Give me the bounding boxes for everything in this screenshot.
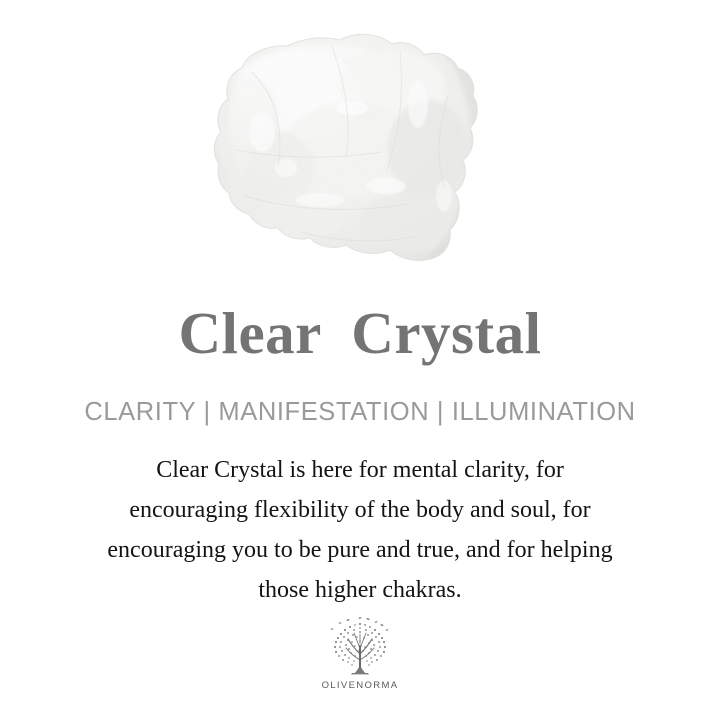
keyword-line: CLARITY | MANIFESTATION | ILLUMINATION bbox=[0, 396, 720, 428]
description-line: encouraging you to be pure and true, and… bbox=[36, 530, 684, 570]
brand-lockup: OLIVENORMA bbox=[0, 616, 720, 691]
description-line: Clear Crystal is here for mental clarity… bbox=[36, 450, 684, 490]
crystal-image-figure bbox=[0, 0, 720, 290]
tree-roots bbox=[351, 666, 369, 674]
description-line: those higher chakras. bbox=[36, 570, 684, 610]
product-description: Clear Crystal is here for mental clarity… bbox=[36, 450, 684, 610]
crystal-body bbox=[200, 20, 500, 290]
page-title: Clear Crystal bbox=[0, 300, 720, 366]
product-info-card: Clear Crystal CLARITY | MANIFESTATION | … bbox=[0, 0, 720, 720]
tree-trunk bbox=[346, 633, 374, 668]
olive-tree-icon bbox=[324, 616, 396, 678]
brand-name: OLIVENORMA bbox=[322, 680, 399, 691]
crystal-texture bbox=[200, 20, 500, 280]
raw-clear-quartz-crystal-icon bbox=[0, 0, 720, 290]
description-line: encouraging flexibility of the body and … bbox=[36, 490, 684, 530]
